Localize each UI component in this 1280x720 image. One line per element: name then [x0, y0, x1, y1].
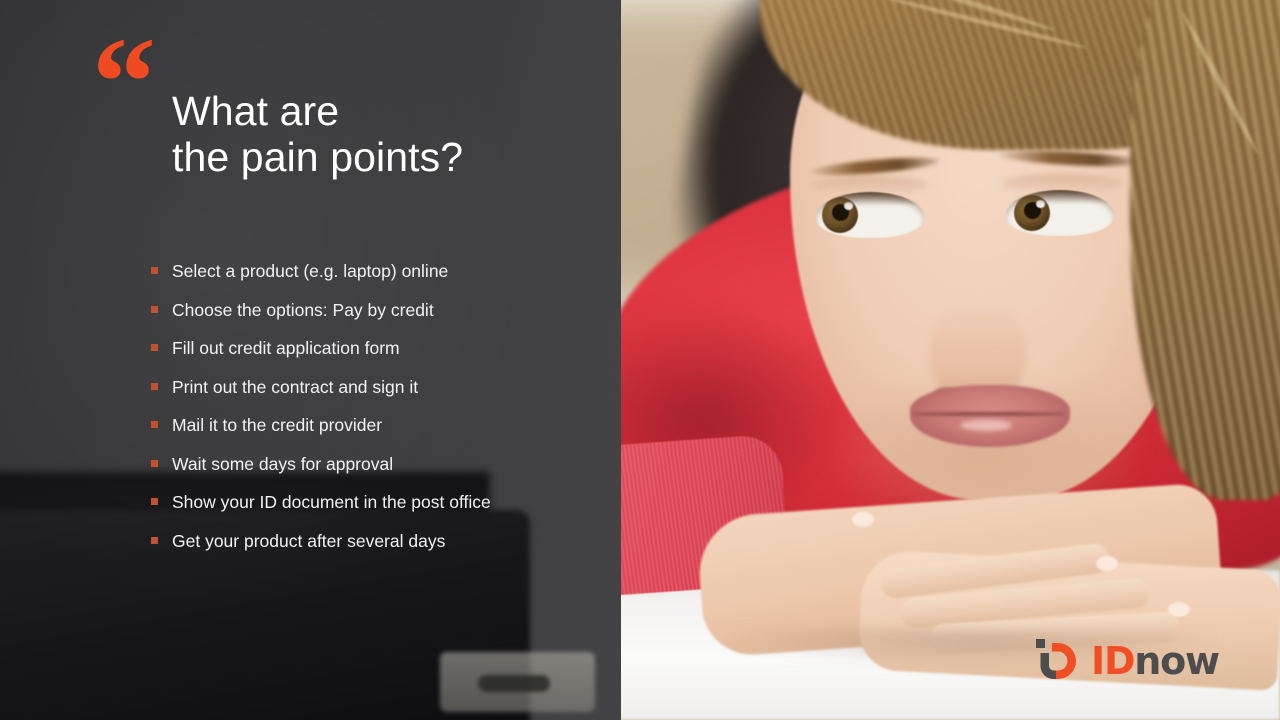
bullet-square-icon — [151, 306, 158, 313]
bullet-square-icon — [151, 267, 158, 274]
bullet-square-icon — [151, 460, 158, 467]
fingernail — [1168, 602, 1190, 617]
logo-now-text: now — [1134, 639, 1219, 683]
lips — [910, 385, 1070, 447]
bullet-square-icon — [151, 537, 158, 544]
eyelashes — [1006, 190, 1114, 204]
list-item-label: Choose the options: Pay by credit — [172, 300, 434, 320]
list-item-label: Show your ID document in the post office — [172, 492, 491, 512]
content-panel: “ What are the pain points? Select a pro… — [0, 0, 621, 720]
lip-highlight — [960, 420, 1012, 431]
list-item-label: Wait some days for approval — [172, 454, 393, 474]
list-item: Print out the contract and sign it — [150, 374, 600, 413]
presentation-slide: “ What are the pain points? Select a pro… — [0, 0, 1280, 720]
logo-wordmark: IDnow — [1091, 642, 1219, 680]
bullet-square-icon — [151, 344, 158, 351]
idnow-logo: IDnow — [1032, 636, 1219, 686]
pain-points-list: Select a product (e.g. laptop) online Ch… — [150, 258, 600, 566]
bullet-square-icon — [151, 421, 158, 428]
quotation-mark-icon: “ — [92, 18, 152, 146]
list-item: Choose the options: Pay by credit — [150, 297, 600, 336]
logo-id-text: ID — [1091, 639, 1134, 683]
list-item-label: Select a product (e.g. laptop) online — [172, 261, 448, 281]
fingernail — [1096, 556, 1118, 571]
list-item-label: Get your product after several days — [172, 531, 445, 551]
list-item: Wait some days for approval — [150, 451, 600, 490]
list-item-label: Fill out credit application form — [172, 338, 400, 358]
bullet-square-icon — [151, 498, 158, 505]
idnow-circle-mark — [1032, 636, 1082, 686]
page-title: What are the pain points? — [172, 88, 592, 181]
eye-left — [816, 192, 924, 238]
page-title-line-1: What are — [172, 88, 592, 134]
bullet-square-icon — [151, 383, 158, 390]
list-item: Mail it to the credit provider — [150, 412, 600, 451]
list-item: Show your ID document in the post office — [150, 489, 600, 528]
list-item-label: Mail it to the credit provider — [172, 415, 382, 435]
lip-line — [912, 412, 1066, 416]
list-item: Select a product (e.g. laptop) online — [150, 258, 600, 297]
list-item: Get your product after several days — [150, 528, 600, 567]
eyelashes — [816, 192, 924, 206]
eye-right — [1006, 190, 1114, 236]
page-title-line-2: the pain points? — [172, 134, 592, 180]
list-item: Fill out credit application form — [150, 335, 600, 374]
fingernail — [852, 512, 874, 527]
list-item-label: Print out the contract and sign it — [172, 377, 418, 397]
